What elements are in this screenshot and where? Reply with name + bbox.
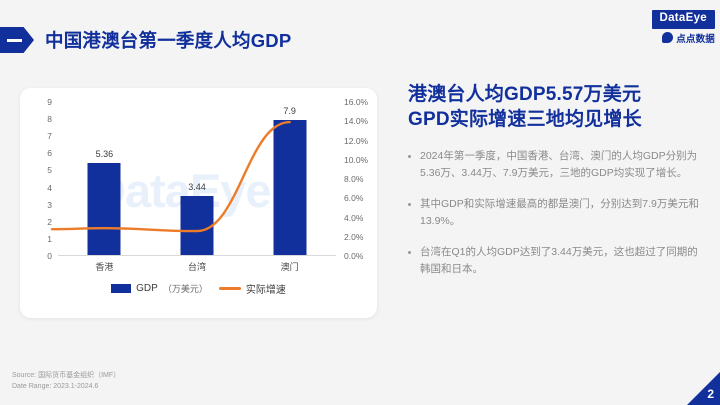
legend-line-swatch	[219, 287, 241, 290]
list-item: 台湾在Q1的人均GDP达到了3.44万美元，这也超过了同期的韩国和日本。	[408, 244, 704, 278]
y-axis-left-tick: 9	[47, 97, 52, 107]
y-axis-left-tick: 0	[47, 251, 52, 261]
dash-badge-icon	[0, 27, 34, 53]
slide-title-row: 中国港澳台第一季度人均GDP	[0, 27, 291, 53]
eye-drop-icon	[662, 32, 673, 43]
sub-brand-row: 点点数据	[662, 31, 715, 45]
y-axis-right-tick: 8.0%	[344, 174, 363, 184]
y-axis-right-tick: 2.0%	[344, 232, 363, 242]
headline-line-1: 港澳台人均GDP5.57万美元	[408, 82, 704, 107]
x-axis-tick: 澳门	[281, 260, 299, 273]
y-axis-right-tick: 12.0%	[344, 136, 368, 146]
growth-rate-line	[58, 102, 336, 255]
bullet-text: 台湾在Q1的人均GDP达到了3.44万美元，这也超过了同期的韩国和日本。	[420, 244, 704, 278]
bullet-text: 2024年第一季度，中国香港、台湾、澳门的人均GDP分别为5.36万、3.44万…	[420, 148, 704, 182]
y-axis-right-tick: 16.0%	[344, 97, 368, 107]
insight-panel: 港澳台人均GDP5.57万美元 GPD实际增速三地均见增长 2024年第一季度，…	[408, 82, 704, 292]
y-axis-right-tick: 10.0%	[344, 155, 368, 165]
date-range-line: Date Range: 2023.1-2024.6	[12, 381, 120, 392]
page-corner-decoration	[687, 372, 720, 405]
y-axis-left-tick: 3	[47, 200, 52, 210]
y-axis-left-tick: 4	[47, 183, 52, 193]
chart-plot: 01234567890.0%2.0%4.0%6.0%8.0%10.0%12.0%…	[58, 102, 336, 256]
bullet-text: 其中GDP和实际增速最高的都是澳门，分别达到7.9万美元和13.9%。	[420, 196, 704, 230]
source-line: Source: 国际货币基金组织（IMF）	[12, 370, 120, 381]
source-footer: Source: 国际货币基金组织（IMF） Date Range: 2023.1…	[12, 370, 120, 392]
y-axis-left-tick: 2	[47, 217, 52, 227]
y-axis-left-tick: 6	[47, 148, 52, 158]
x-axis-tick: 台湾	[188, 260, 206, 273]
bullet-dot-icon	[408, 203, 411, 206]
dash-glyph	[7, 39, 22, 42]
y-axis-right-tick: 4.0%	[344, 213, 363, 223]
y-axis-left-tick: 1	[47, 234, 52, 244]
chart-area: 01234567890.0%2.0%4.0%6.0%8.0%10.0%12.0%…	[58, 102, 336, 272]
bullet-list: 2024年第一季度，中国香港、台湾、澳门的人均GDP分别为5.36万、3.44万…	[408, 148, 704, 278]
legend-item-gdp: GDP （万美元）	[111, 282, 208, 295]
chart-card: DataEye 01234567890.0%2.0%4.0%6.0%8.0%10…	[20, 88, 377, 318]
legend-item-growth: 实际增速	[219, 281, 286, 296]
y-axis-right-tick: 0.0%	[344, 251, 363, 261]
legend-bar-label: GDP	[136, 283, 158, 294]
y-axis-left-tick: 8	[47, 114, 52, 124]
x-axis-tick: 香港	[95, 260, 113, 273]
legend-bar-unit: （万美元）	[163, 282, 208, 295]
sub-brand-name: 点点数据	[676, 31, 715, 45]
bullet-dot-icon	[408, 155, 411, 158]
panel-headline: 港澳台人均GDP5.57万美元 GPD实际增速三地均见增长	[408, 82, 704, 132]
bullet-dot-icon	[408, 251, 411, 254]
brand-logo: DataEye 点点数据	[652, 10, 716, 45]
page-number: 2	[707, 387, 714, 401]
brand-name: DataEye	[652, 10, 716, 29]
y-axis-right-tick: 14.0%	[344, 116, 368, 126]
list-item: 其中GDP和实际增速最高的都是澳门，分别达到7.9万美元和13.9%。	[408, 196, 704, 230]
list-item: 2024年第一季度，中国香港、台湾、澳门的人均GDP分别为5.36万、3.44万…	[408, 148, 704, 182]
y-axis-left-tick: 7	[47, 131, 52, 141]
legend-bar-swatch	[111, 284, 131, 293]
headline-line-2: GPD实际增速三地均见增长	[408, 107, 704, 132]
y-axis-right-tick: 6.0%	[344, 193, 363, 203]
legend-line-label: 实际增速	[246, 281, 286, 296]
y-axis-left-tick: 5	[47, 165, 52, 175]
page-title: 中国港澳台第一季度人均GDP	[45, 27, 291, 53]
chart-legend: GDP （万美元） 实际增速	[20, 281, 377, 296]
